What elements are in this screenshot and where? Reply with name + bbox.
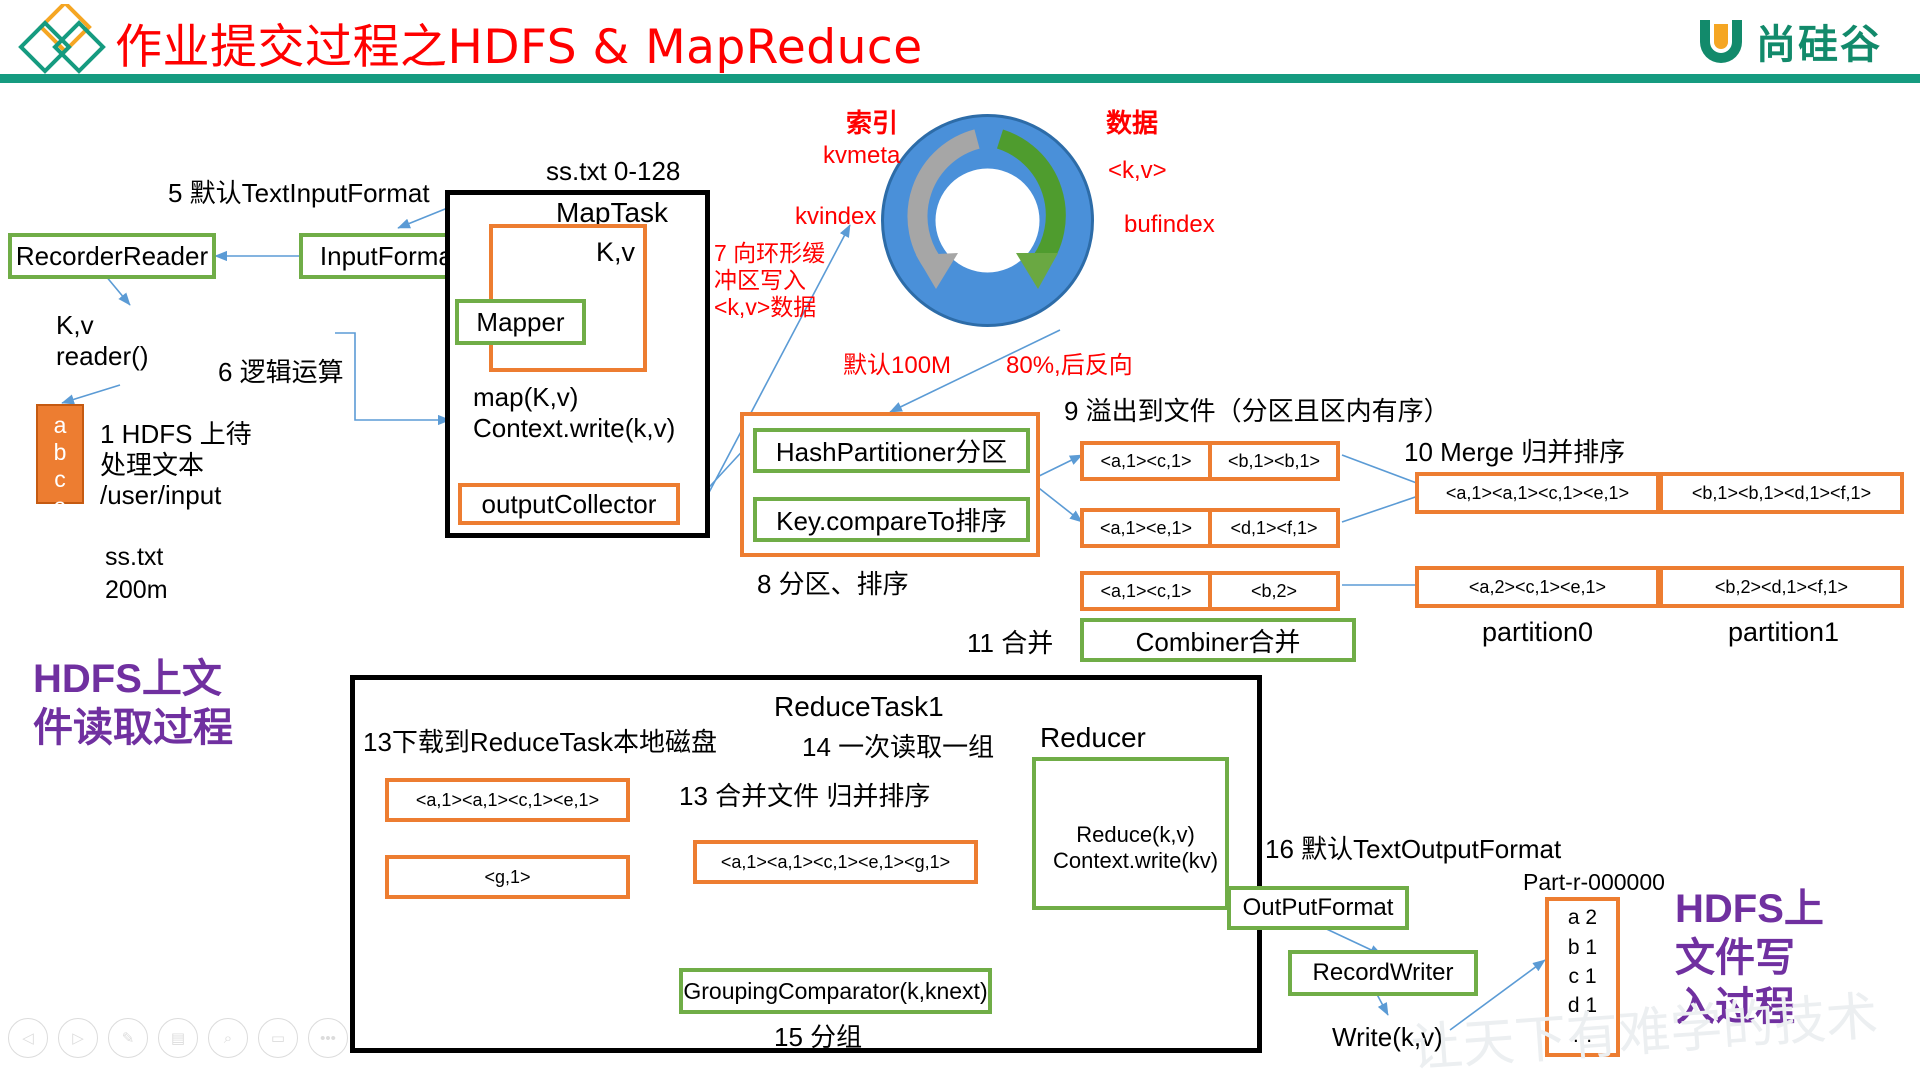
- key-compareto-box[interactable]: Key.compareTo排序: [753, 497, 1030, 542]
- ring-default-size-label: 默认100M: [843, 352, 951, 380]
- reducer-title: Reducer: [1040, 721, 1146, 754]
- prev-slide-icon[interactable]: ◁: [8, 1018, 48, 1058]
- map-calls-label: map(K,v) Context.write(k,v): [473, 382, 675, 443]
- step13-download-label: 13下载到ReduceTask本地磁盘: [363, 727, 717, 758]
- kv-reader-label: K,v reader(): [56, 310, 148, 371]
- spill-row: <b,1><b,1>: [1208, 441, 1340, 481]
- partition1-label: partition1: [1728, 617, 1839, 649]
- step10-label: 10 Merge 归并排序: [1404, 437, 1625, 468]
- split-label: ss.txt 0-128: [546, 156, 680, 187]
- step15-label: 15 分组: [774, 1022, 862, 1053]
- src-char: b: [54, 439, 67, 466]
- watermark: 让天下有难学的技术: [1408, 974, 1880, 1081]
- step13-merge-label: 13 合并文件 归并排序: [679, 781, 930, 812]
- spill-row: <a,1><e,1>: [1080, 508, 1212, 548]
- step16-label: 16 默认TextOutputFormat: [1265, 834, 1561, 865]
- data-kv-label: <k,v>: [1108, 157, 1167, 185]
- step6-label: 6 逻辑运算: [218, 357, 344, 388]
- part-line: c 1: [1568, 965, 1596, 989]
- more-options-icon[interactable]: •••: [308, 1018, 348, 1058]
- step8-label: 8 分区、排序: [757, 569, 909, 600]
- output-collector-box[interactable]: outputCollector: [458, 483, 680, 525]
- brand-name: 尚硅谷: [1756, 12, 1882, 70]
- src-char: b: [54, 520, 67, 547]
- part-line: b 1: [1568, 936, 1597, 960]
- src-char: …: [49, 547, 72, 574]
- next-slide-icon[interactable]: ▷: [58, 1018, 98, 1058]
- step11-label: 11 合并: [967, 628, 1053, 659]
- header-divider: [0, 74, 1920, 83]
- merge-row: <a,1><a,1><c,1><e,1>: [1415, 472, 1660, 514]
- combiner-box[interactable]: Combiner合并: [1080, 618, 1356, 662]
- spill-row: <b,2>: [1208, 571, 1340, 611]
- record-writer-box[interactable]: RecordWriter: [1288, 950, 1478, 996]
- spill-row: <a,1><c,1>: [1080, 441, 1212, 481]
- partition0-label: partition0: [1482, 617, 1593, 649]
- kv-label: K,v: [596, 237, 635, 269]
- part-file-name: Part-r-000000: [1523, 869, 1665, 896]
- circular-buffer-graphic: [880, 113, 1095, 328]
- hdfs-source-file-block: a b c a b …: [36, 404, 84, 504]
- source-file-name: ss.txt: [105, 543, 163, 573]
- zoom-icon[interactable]: ⌕: [208, 1018, 248, 1058]
- merge-row: <b,1><b,1><d,1><f,1>: [1659, 472, 1904, 514]
- src-char: a: [54, 412, 67, 439]
- hdfs-read-caption: HDFS上文 件读取过程: [33, 655, 233, 753]
- output-format-box[interactable]: OutPutFormat: [1227, 886, 1409, 930]
- src-char: c: [54, 466, 66, 493]
- recorder-reader-box[interactable]: RecorderReader: [8, 233, 216, 279]
- merge-row: <b,2><d,1><f,1>: [1659, 566, 1904, 608]
- brand-logo: 尚硅谷: [1696, 12, 1882, 70]
- reduce-calls-label: Reduce(k,v) Context.write(kv): [1053, 822, 1218, 874]
- merged-file-box: <a,1><a,1><c,1><e,1><g,1>: [693, 840, 978, 884]
- mapper-box[interactable]: Mapper: [455, 299, 586, 345]
- bufindex-label: bufindex: [1124, 211, 1215, 239]
- step9-label: 9 溢出到文件（分区且区内有序）: [1064, 396, 1450, 427]
- step5-label: 5 默认TextInputFormat: [168, 178, 430, 209]
- pen-icon[interactable]: ✎: [108, 1018, 148, 1058]
- source-file-size: 200m: [105, 576, 168, 606]
- kvindex-label: kvindex: [795, 203, 876, 231]
- step1-label: 1 HDFS 上待 处理文本 /user/input: [100, 419, 252, 511]
- index-title-label: 索引: [846, 108, 898, 139]
- spill-row: <a,1><c,1>: [1080, 571, 1212, 611]
- subtitles-icon[interactable]: ▭: [258, 1018, 298, 1058]
- kvmeta-label: kvmeta: [823, 142, 900, 170]
- logo-diamonds-icon: [18, 4, 108, 84]
- part-line: a 2: [1568, 906, 1597, 930]
- grouping-comparator-box[interactable]: GroupingComparator(k,knext): [679, 968, 992, 1014]
- ring-threshold-label: 80%,后反向: [1006, 352, 1133, 380]
- slides-grid-icon[interactable]: ▤: [158, 1018, 198, 1058]
- slide-header: 作业提交过程之HDFS & MapReduce 尚硅谷: [0, 0, 1920, 90]
- presentation-toolbar[interactable]: ◁ ▷ ✎ ▤ ⌕ ▭ •••: [8, 1018, 348, 1058]
- hash-partitioner-box[interactable]: HashPartitioner分区: [753, 428, 1030, 473]
- src-char: a: [54, 493, 67, 520]
- brand-u-icon: [1696, 16, 1746, 66]
- spill-row: <d,1><f,1>: [1208, 508, 1340, 548]
- data-title-label: 数据: [1106, 108, 1158, 139]
- merge-row: <a,2><c,1><e,1>: [1415, 566, 1660, 608]
- step7-label: 7 向环形缓 冲区写入 <k,v>数据: [714, 240, 825, 321]
- step14-label: 14 一次读取一组: [802, 732, 994, 763]
- page-title: 作业提交过程之HDFS & MapReduce: [115, 8, 923, 77]
- downloaded-file-box: <a,1><a,1><c,1><e,1>: [385, 778, 630, 822]
- reducetask-title: ReduceTask1: [774, 690, 944, 723]
- downloaded-file-box: <g,1>: [385, 855, 630, 899]
